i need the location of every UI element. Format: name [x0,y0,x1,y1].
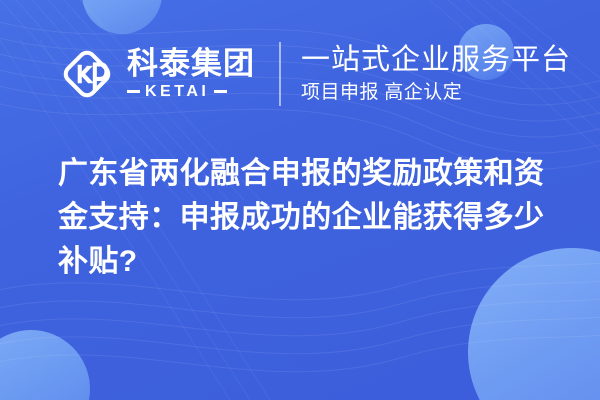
decorative-circle-bottom-left [0,330,90,400]
tagline-secondary: 项目申报 高企认定 [301,82,571,104]
brand-name-en: KETAI [145,84,209,100]
header-divider [279,42,281,106]
tagline-primary: 一站式企业服务平台 [301,44,571,76]
ketai-diamond-kp-logo-icon [58,45,116,103]
page-title: 广东省两化融合申报的奖励政策和资金支持：申报成功的企业能获得多少补贴? [58,152,556,284]
brand-logo[interactable]: 科泰集团 KETAI [58,45,255,103]
header-tagline: 一站式企业服务平台 项目申报 高企认定 [301,44,571,104]
brand-wordmark: 科泰集团 KETAI [127,48,255,100]
banner-header: 科泰集团 KETAI 一站式企业服务平台 项目申报 高企认定 [0,0,600,148]
brand-name-en-row: KETAI [127,84,255,100]
brand-rule-left-icon [127,90,140,93]
brand-rule-right-icon [214,90,227,93]
promo-banner: 科泰集团 KETAI 一站式企业服务平台 项目申报 高企认定 广东省两化融合申报… [0,0,600,400]
brand-name-cn: 科泰集团 [127,48,255,80]
